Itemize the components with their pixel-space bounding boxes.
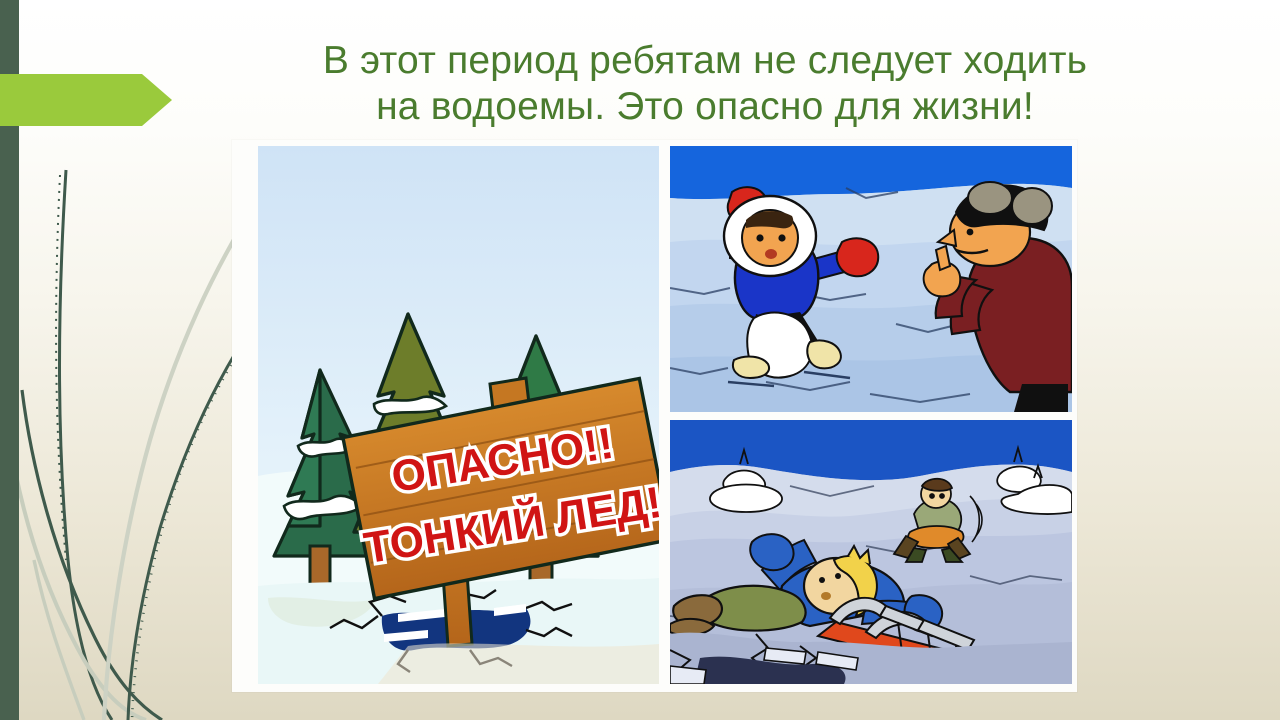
image-fallen-boy[interactable] bbox=[670, 420, 1072, 684]
image-warning-sign[interactable]: ОПАСНО!! ТОНКИЙ ЛЕД! bbox=[258, 146, 659, 684]
image-skaters-warning[interactable] bbox=[670, 146, 1072, 412]
slide-canvas: В этот период ребятам не следует ходить … bbox=[0, 0, 1280, 720]
page-title: В этот период ребятам не следует ходить … bbox=[200, 38, 1210, 129]
green-arrow-banner bbox=[0, 72, 180, 128]
